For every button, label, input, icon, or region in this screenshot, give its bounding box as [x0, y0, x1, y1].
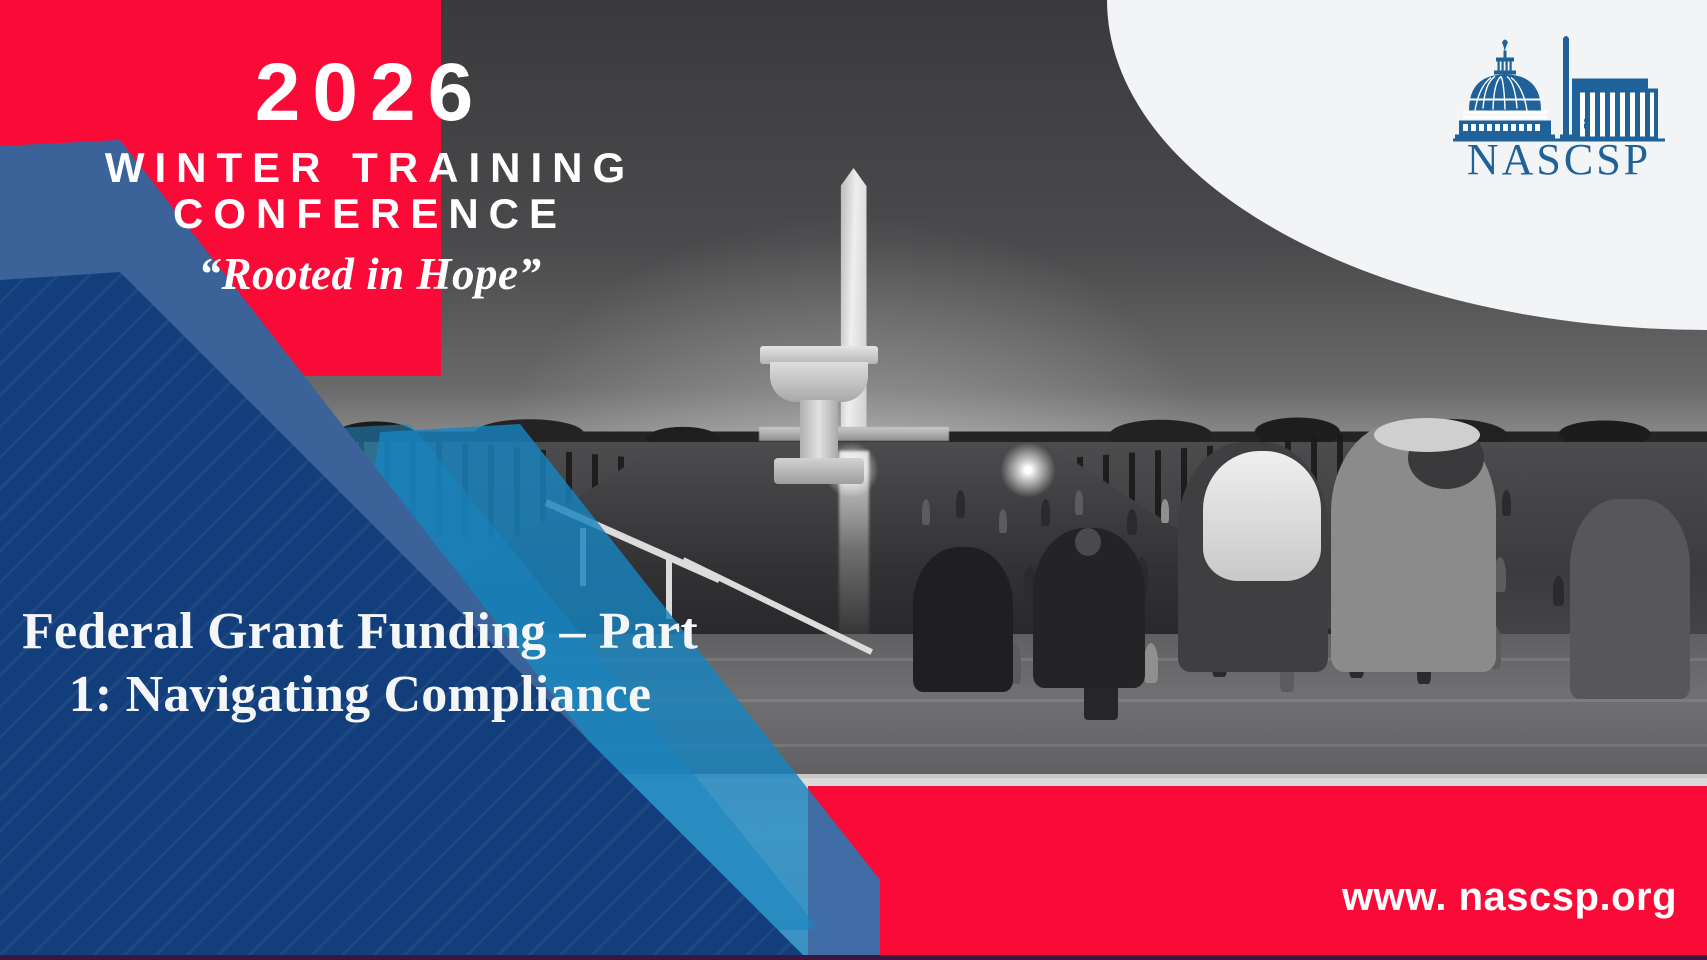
conference-year: 2026: [0, 52, 740, 134]
stone-urn: [760, 346, 878, 634]
website-url[interactable]: www. nascsp.org: [1342, 875, 1677, 920]
conference-name-line-1: WINTER TRAINING: [0, 146, 740, 190]
washington-monument-icon: [1560, 36, 1572, 139]
capitol-dome-icon: [1455, 40, 1555, 139]
pool-lamp-right: [1000, 442, 1056, 498]
red-footer-bar: [808, 786, 1707, 960]
session-title: Federal Grant Funding – Part 1: Navigati…: [10, 600, 710, 727]
colonnade-building-icon: [1572, 79, 1658, 139]
nascsp-logo[interactable]: NASCSP: [1439, 18, 1679, 186]
conference-title-slide: 2026 WINTER TRAINING CONFERENCE “Rooted …: [0, 0, 1707, 960]
conference-name-line-2: CONFERENCE: [0, 190, 740, 238]
nascsp-wordmark: NASCSP: [1439, 138, 1679, 182]
conference-tagline: “Rooted in Hope”: [0, 248, 740, 300]
conference-name: WINTER TRAINING CONFERENCE: [0, 146, 740, 238]
bottom-edge-strip: [0, 955, 1707, 960]
